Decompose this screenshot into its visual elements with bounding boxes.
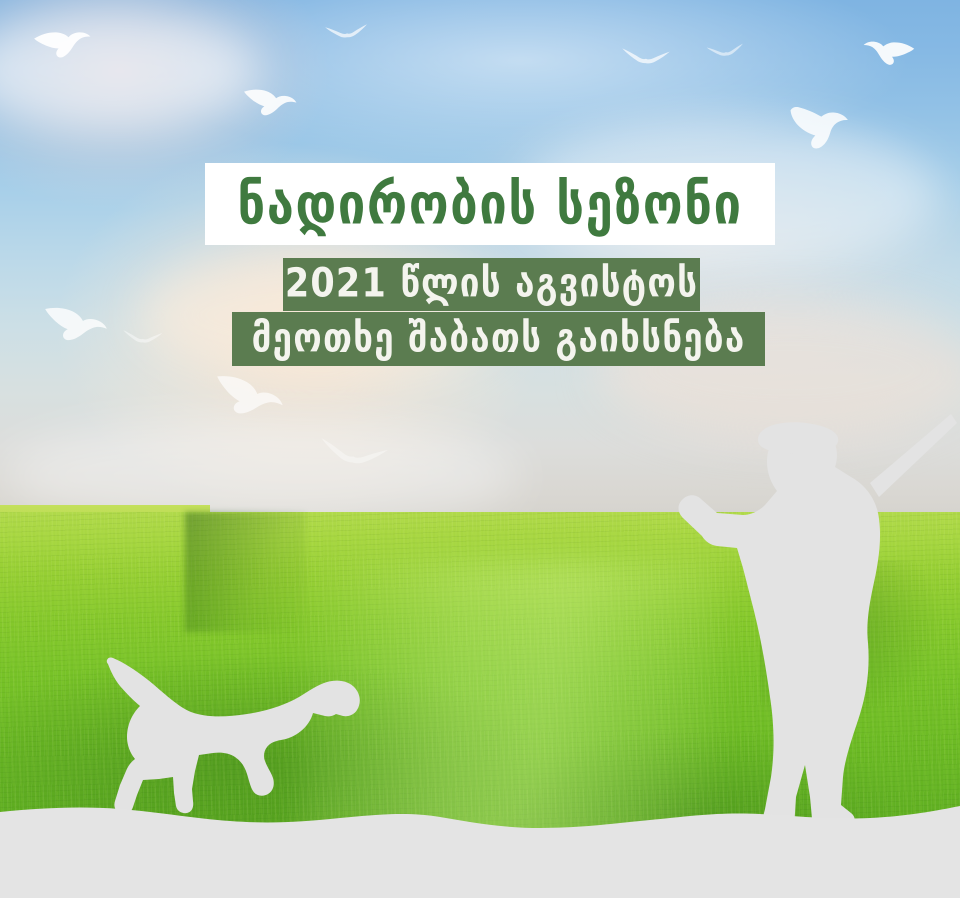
page-title: ნადირობის სეზონი <box>237 176 742 233</box>
poster-canvas: ნადირობის სეზონი 2021 წლის აგვისტოს მეოთ… <box>0 0 960 898</box>
title-band: ნადირობის სეზონი <box>205 163 775 245</box>
subtitle-band-line2: მეოთხე შაბათს გაიხსნება <box>232 312 765 366</box>
grass-ridge-shadow <box>185 512 305 632</box>
subtitle-band-line1: 2021 წლის აგვისტოს <box>283 258 700 311</box>
bottom-gray-band <box>0 788 960 898</box>
subtitle-line2: მეოთხე შაბათს გაიხსნება <box>252 319 746 359</box>
subtitle-line1: 2021 წლის აგვისტოს <box>285 265 698 305</box>
